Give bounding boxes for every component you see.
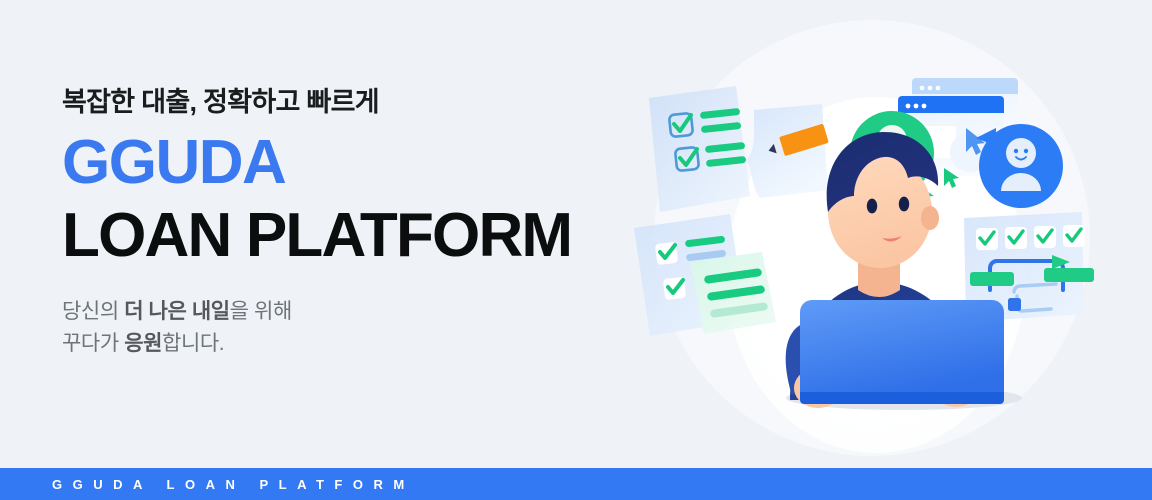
laptop	[800, 300, 1004, 404]
hero-illustration	[604, 0, 1152, 468]
person-eye-right	[899, 197, 909, 212]
promo-banner: 복잡한 대출, 정확하고 빠르게 GGUDA LOAN PLATFORM 당신의…	[0, 0, 1152, 500]
pencil-document	[746, 104, 829, 198]
tagline-l1-suffix: 을 위해	[230, 300, 292, 323]
tagline-l2-bold: 응원	[124, 332, 162, 355]
copy-block: 복잡한 대출, 정확하고 빠르게 GGUDA LOAN PLATFORM 당신의…	[62, 86, 662, 359]
person-ear	[921, 206, 939, 230]
tagline-l1-prefix: 당신의	[62, 300, 124, 323]
checklist-document-top-left	[649, 86, 750, 212]
green-note-card	[690, 252, 776, 334]
tagline-l2-prefix: 꾸다가	[62, 332, 124, 355]
product-title: LOAN PLATFORM	[62, 203, 662, 270]
tagline-l2-suffix: 합니다.	[162, 332, 224, 355]
strip-text: GGUDA LOAN PLATFORM	[52, 477, 415, 492]
bottom-strip: GGUDA LOAN PLATFORM	[0, 468, 1152, 500]
brand-title: GGUDA	[62, 130, 662, 197]
person-eye-left	[867, 199, 877, 214]
tagline: 당신의 더 나은 내일을 위해 꾸다가 응원합니다.	[62, 296, 662, 360]
tagline-l1-bold: 더 나은 내일	[124, 300, 229, 323]
eyebrow-text: 복잡한 대출, 정확하고 빠르게	[62, 86, 662, 120]
